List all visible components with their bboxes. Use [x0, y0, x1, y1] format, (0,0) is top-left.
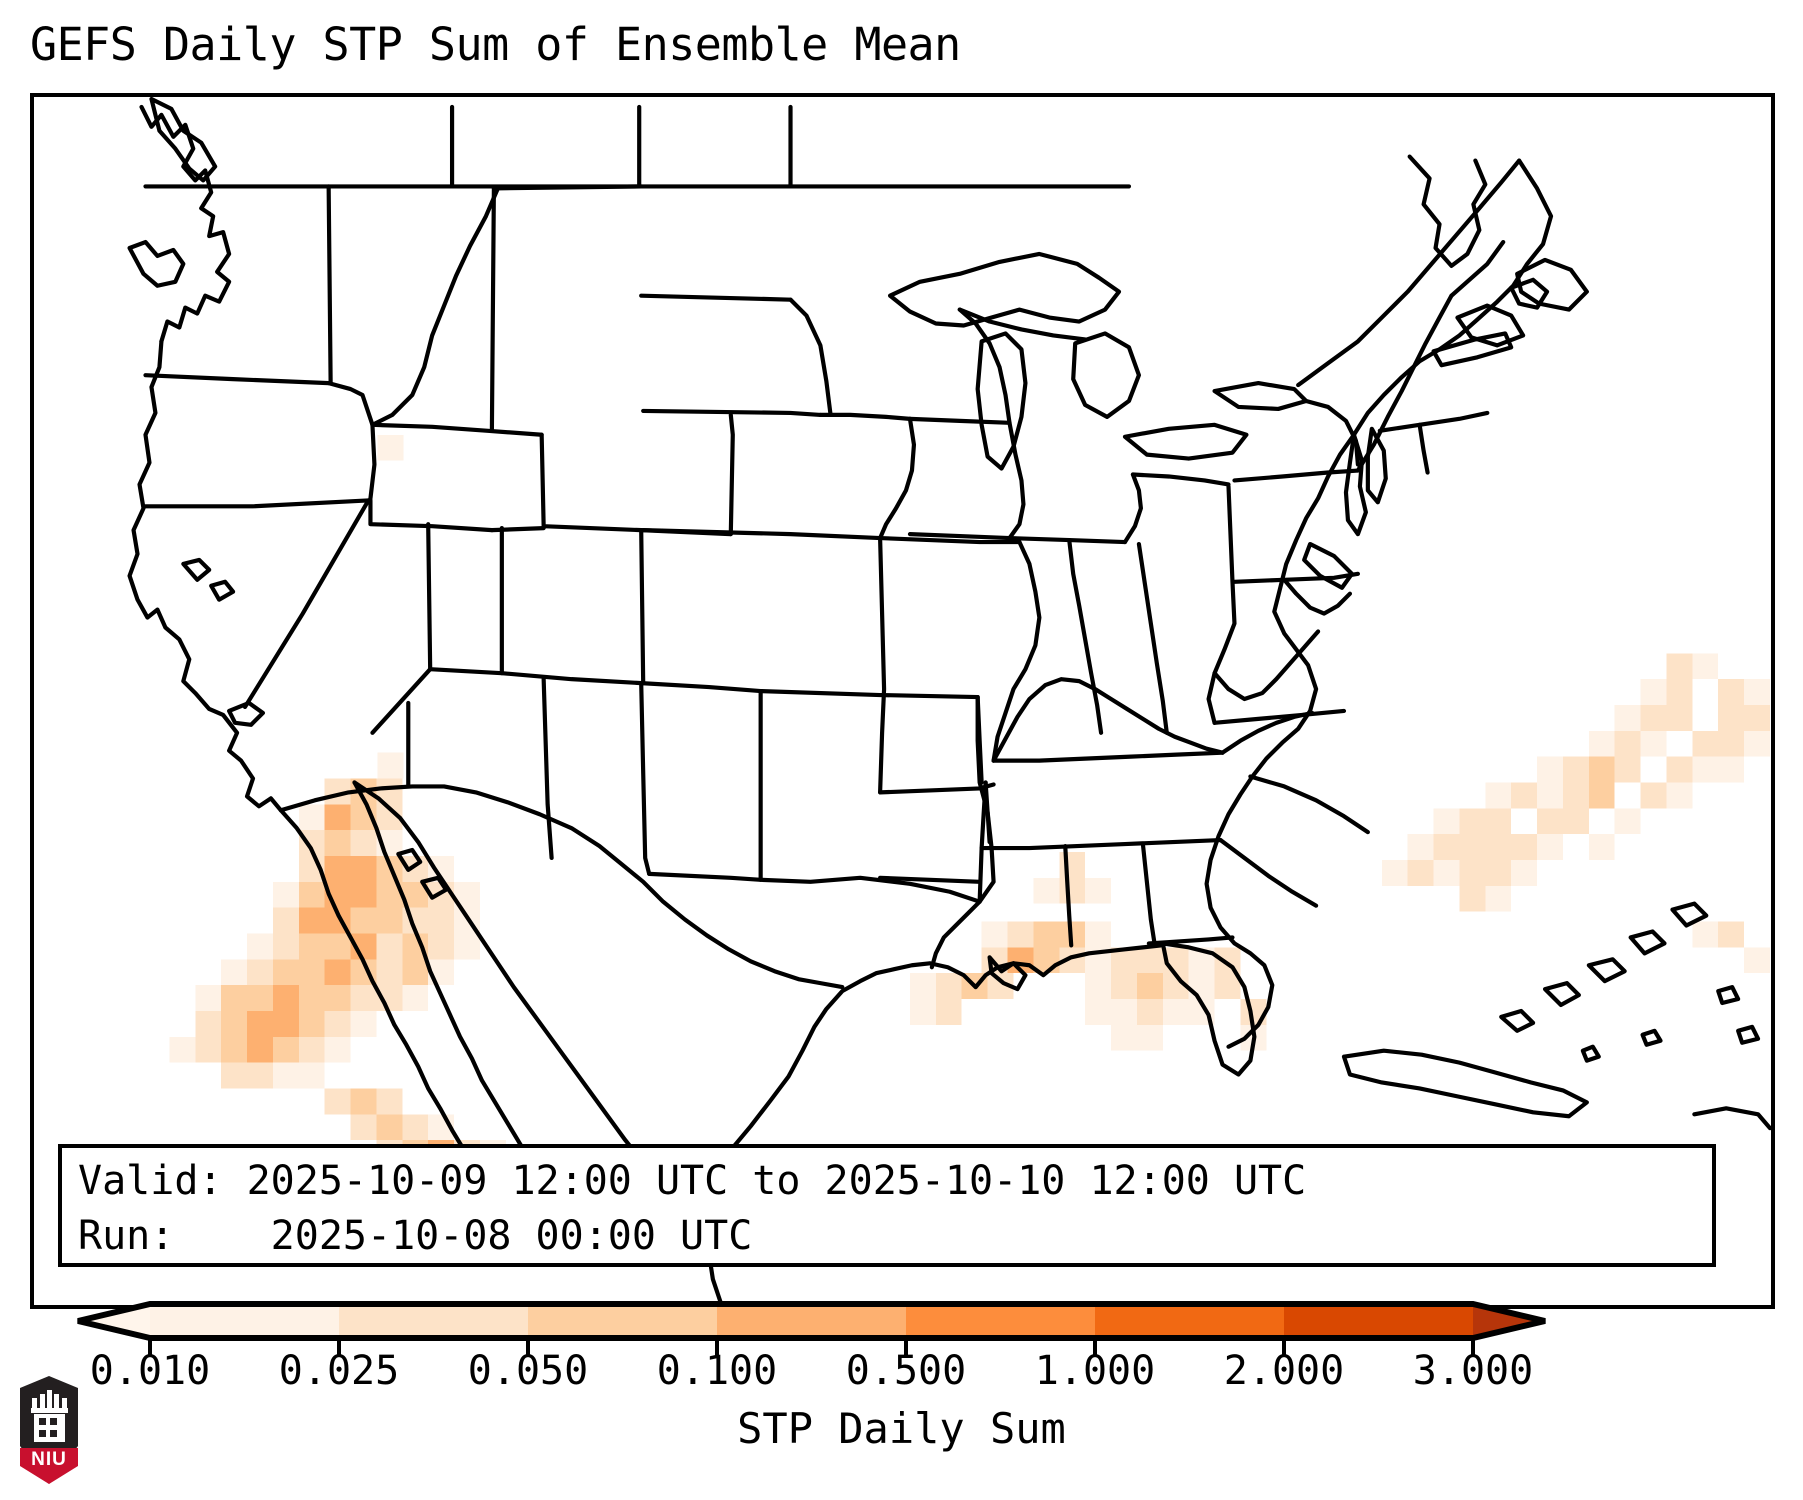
border-state-id-mt [372, 188, 497, 424]
niu-banner-text: NIU [31, 1449, 67, 1470]
border-state-tn-ms-al-ga [982, 840, 1221, 848]
border-state-ct-ny [1420, 425, 1428, 473]
coastline-long-island [1434, 333, 1512, 365]
colorbar-tick-label-6: 2.000 [1224, 1348, 1344, 1394]
colorbar-tick-label-2: 0.050 [468, 1348, 588, 1394]
border-state-mt-wy [492, 188, 494, 430]
coastline-st-lawrence [1298, 161, 1519, 386]
border-state-ok-tx-red [761, 697, 994, 902]
colorbar-band-5 [1095, 1304, 1284, 1338]
border-state-nh-me [1451, 242, 1503, 296]
border-state-oh-mi [1133, 475, 1229, 485]
border-state-wa-id [329, 186, 331, 383]
colorbar-tick-label-5: 1.000 [1035, 1348, 1155, 1394]
border-state-wy-co-ut [492, 528, 544, 530]
coastline-newfoundland-edge [1410, 157, 1486, 266]
coastline-small-island-1 [1583, 1047, 1599, 1061]
border-state-co-nm-ok [641, 683, 760, 691]
colorbar-tick-label-4: 0.500 [846, 1348, 966, 1394]
coastline-bahamas-b [1545, 983, 1579, 1005]
coastline-bahamas-c [1589, 959, 1625, 981]
coastline-hispaniola [1694, 1108, 1770, 1128]
border-state-wv-va [1215, 631, 1319, 699]
border-state-ok-tx-panhandle [649, 691, 760, 880]
colorbar-bands [78, 1304, 1545, 1338]
border-state-ks-ok [761, 691, 978, 697]
border-state-nv-ca [245, 500, 368, 707]
colorbar-band-3 [717, 1304, 906, 1338]
map-plot-area [30, 93, 1775, 1309]
coastline-lake-superior [890, 254, 1119, 326]
colorbar-svg [0, 1296, 1803, 1356]
border-state-ga-fl [1149, 937, 1233, 943]
colorbar-tick-label-7: 3.000 [1413, 1348, 1533, 1394]
coastline-outer-banks [1304, 544, 1352, 588]
border-state-in-oh [1139, 544, 1167, 733]
colorbar-tick-labels: 0.010 0.025 0.050 0.100 0.500 1.000 2.00… [0, 1348, 1803, 1398]
border-state-ma-ct-ri [1380, 413, 1488, 431]
border-state-il-in [1069, 540, 1101, 733]
border-state-or-ca-nv [143, 500, 370, 506]
border-state-oh-pa-wv [1209, 486, 1235, 722]
border-state-ky-tn [994, 753, 1223, 761]
colorbar-tick-label-1: 0.025 [279, 1348, 399, 1394]
border-state-id-wy [372, 425, 541, 435]
border-state-ia-wi-il [910, 423, 1023, 538]
border-state-sc-ga [1221, 840, 1317, 906]
colorbar-tick-label-0: 0.010 [90, 1348, 210, 1394]
coastline-cape-cod [1511, 280, 1547, 308]
coastline-small-island-2 [1643, 1031, 1661, 1045]
border-state-pa-md-nj [1234, 574, 1357, 582]
colorbar-axis-label: STP Daily Sum [0, 1404, 1803, 1454]
border-state-ne-wy-line [731, 415, 733, 534]
border-state-co-ks-ne [641, 530, 643, 683]
border-state-ne-ks [643, 530, 880, 538]
coastline-nova-scotia [1457, 306, 1523, 346]
border-state-ia-mn [910, 419, 1010, 423]
niu-logo: NIU [14, 1374, 84, 1486]
border-state-nd-sd [641, 296, 790, 300]
border-state-ar-mo [880, 784, 993, 792]
coastline-lake-michigan [978, 333, 1026, 468]
weather-map-figure: GEFS Daily STP Sum of Ensemble Mean [0, 0, 1803, 1500]
border-state-ut-az-nm [430, 669, 641, 683]
colorbar [0, 1296, 1803, 1356]
colorbar-band-0 [150, 1304, 339, 1338]
border-state-vt-nh [1414, 296, 1452, 368]
coastline-channel-islands-b [211, 582, 233, 600]
border-state-tx-la [932, 902, 980, 968]
coastline-maritimes [1517, 260, 1587, 310]
border-state-nd-mn [791, 300, 831, 413]
coastline-lake-ontario [1215, 383, 1307, 409]
border-state-mo-ks [880, 538, 884, 792]
colorbar-band-6 [1284, 1304, 1473, 1338]
coastline-olympic-peninsula [130, 242, 184, 286]
border-state-nv-ut [428, 524, 430, 669]
border-state-pa-ny [1234, 471, 1357, 481]
border-state-id-nv-ut [370, 500, 491, 530]
border-state-mi-wi-lower [1125, 475, 1141, 543]
border-state-mt-nd-sd [494, 186, 641, 188]
figure-title: GEFS Daily STP Sum of Ensemble Mean [30, 14, 1770, 76]
run-line: Run: 2025-10-08 00:00 UTC [78, 1209, 1696, 1264]
border-state-nv-az [372, 669, 430, 733]
coastline-cuba [1344, 1051, 1587, 1117]
border-state-ar-ms-tn [986, 782, 990, 842]
valid-line: Valid: 2025-10-09 12:00 UTC to 2025-10-1… [78, 1154, 1696, 1209]
coastline-bahamas-a [1501, 1011, 1533, 1031]
border-state-wy-sd-ne [542, 435, 731, 534]
valid-run-infobox: Valid: 2025-10-09 12:00 UTC to 2025-10-1… [58, 1144, 1716, 1267]
border-state-nm-tx [641, 683, 649, 874]
border-state-al-ga [1143, 844, 1155, 945]
data-grid-cells [169, 435, 1770, 1218]
coastline-small-island-4 [1738, 1027, 1758, 1043]
colorbar-band-1 [339, 1304, 528, 1338]
coastline-channel-islands-a [183, 560, 209, 580]
coastline-bahamas-d [1631, 931, 1665, 953]
border-state-ne-ia-mo [880, 419, 914, 538]
colorbar-tick-label-3: 0.100 [657, 1348, 777, 1394]
coastline-pacific-northwest [142, 107, 230, 341]
map-canvas [34, 97, 1771, 1305]
border-state-az-nm [544, 679, 552, 858]
colorbar-band-2 [528, 1304, 717, 1338]
border-state-nc-sc [1250, 777, 1367, 833]
border-state-ky-il-in-oh [994, 679, 1223, 760]
colorbar-band-4 [906, 1304, 1095, 1338]
border-state-or-id [329, 383, 375, 498]
border-state-mo-il [994, 542, 1040, 761]
coastline-small-island-3 [1718, 987, 1738, 1003]
coastline-us-east [1207, 161, 1551, 1047]
coastline-lake-huron [1073, 333, 1139, 416]
border-state-sd-ia-mn [820, 415, 910, 419]
coastline-lake-erie [1125, 425, 1246, 459]
border-state-wa-or [145, 375, 328, 383]
